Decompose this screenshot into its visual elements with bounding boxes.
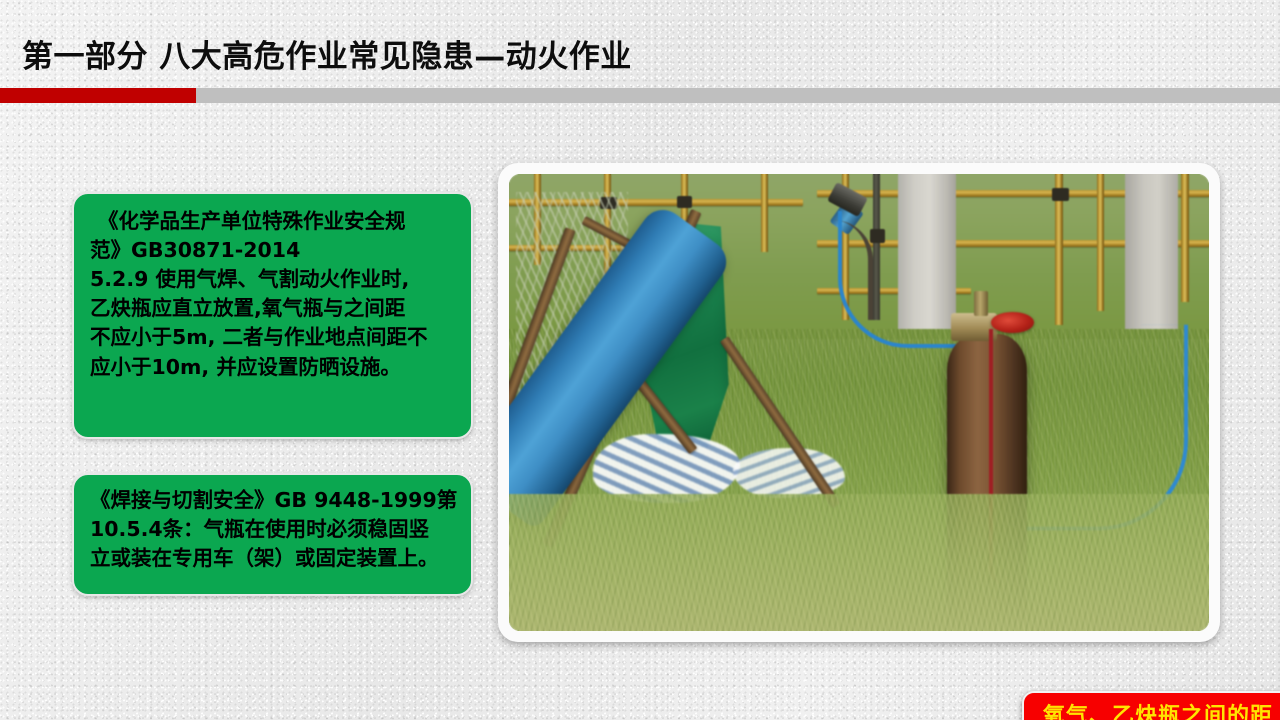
valve-stub [974, 291, 988, 316]
photo-frame: 氧气、乙炔瓶在烈日下暴晒 氧气、乙炔瓶之间的距 离小于5m。 氧气、乙炔瓶无防震… [498, 163, 1220, 642]
regulation-line: 应小于10m, 并应设置防晒设施。 [90, 353, 457, 382]
foreground-grass [509, 494, 1209, 631]
scaffold-clamp [1052, 188, 1069, 202]
scaffold-post [761, 174, 768, 252]
header-rule-gray-segment [196, 88, 1280, 103]
header-rule-red-segment [0, 88, 196, 103]
regulation-line: 5.2.9 使用气焊、气割动火作业时, [90, 265, 457, 294]
scaffold-post [1181, 174, 1189, 302]
regulation-line: 立或装在专用车（架）或固定装置上。 [90, 544, 457, 573]
regulation-line: 《化学品生产单位特殊作业安全规 [90, 207, 457, 236]
regulation-line: 《焊接与切割安全》GB 9448-1999第 [90, 486, 457, 515]
regulation-card-gb9448: 《焊接与切割安全》GB 9448-1999第 10.5.4条：气瓶在使用时必须稳… [72, 473, 473, 596]
scaffold-post [1097, 174, 1104, 311]
regulation-line: 不应小于5m, 二者与作业地点间距不 [90, 323, 457, 352]
slide-canvas: 第一部分 八大高危作业常见隐患—动火作业 《化学品生产单位特殊作业安全规 范》G… [0, 0, 1280, 720]
regulation-line: 范》GB30871-2014 [90, 236, 457, 265]
site-photo [509, 174, 1209, 631]
concrete-column [1125, 174, 1178, 348]
callout-line: 氧气、乙炔瓶之间的距 [1043, 703, 1273, 720]
regulation-line: 乙炔瓶应直立放置,氧气瓶与之间距 [90, 294, 457, 323]
callout-distance: 氧气、乙炔瓶之间的距 离小于5m。 [1022, 691, 1280, 720]
header-divider-rule [0, 88, 1280, 103]
page-title: 第一部分 八大高危作业常见隐患—动火作业 [22, 31, 632, 76]
plastic-bag [593, 434, 740, 503]
scaffold-clamp [677, 196, 692, 208]
regulation-card-gb30871: 《化学品生产单位特殊作业安全规 范》GB30871-2014 5.2.9 使用气… [72, 192, 473, 439]
regulation-line: 10.5.4条：气瓶在使用时必须稳固竖 [90, 515, 457, 544]
